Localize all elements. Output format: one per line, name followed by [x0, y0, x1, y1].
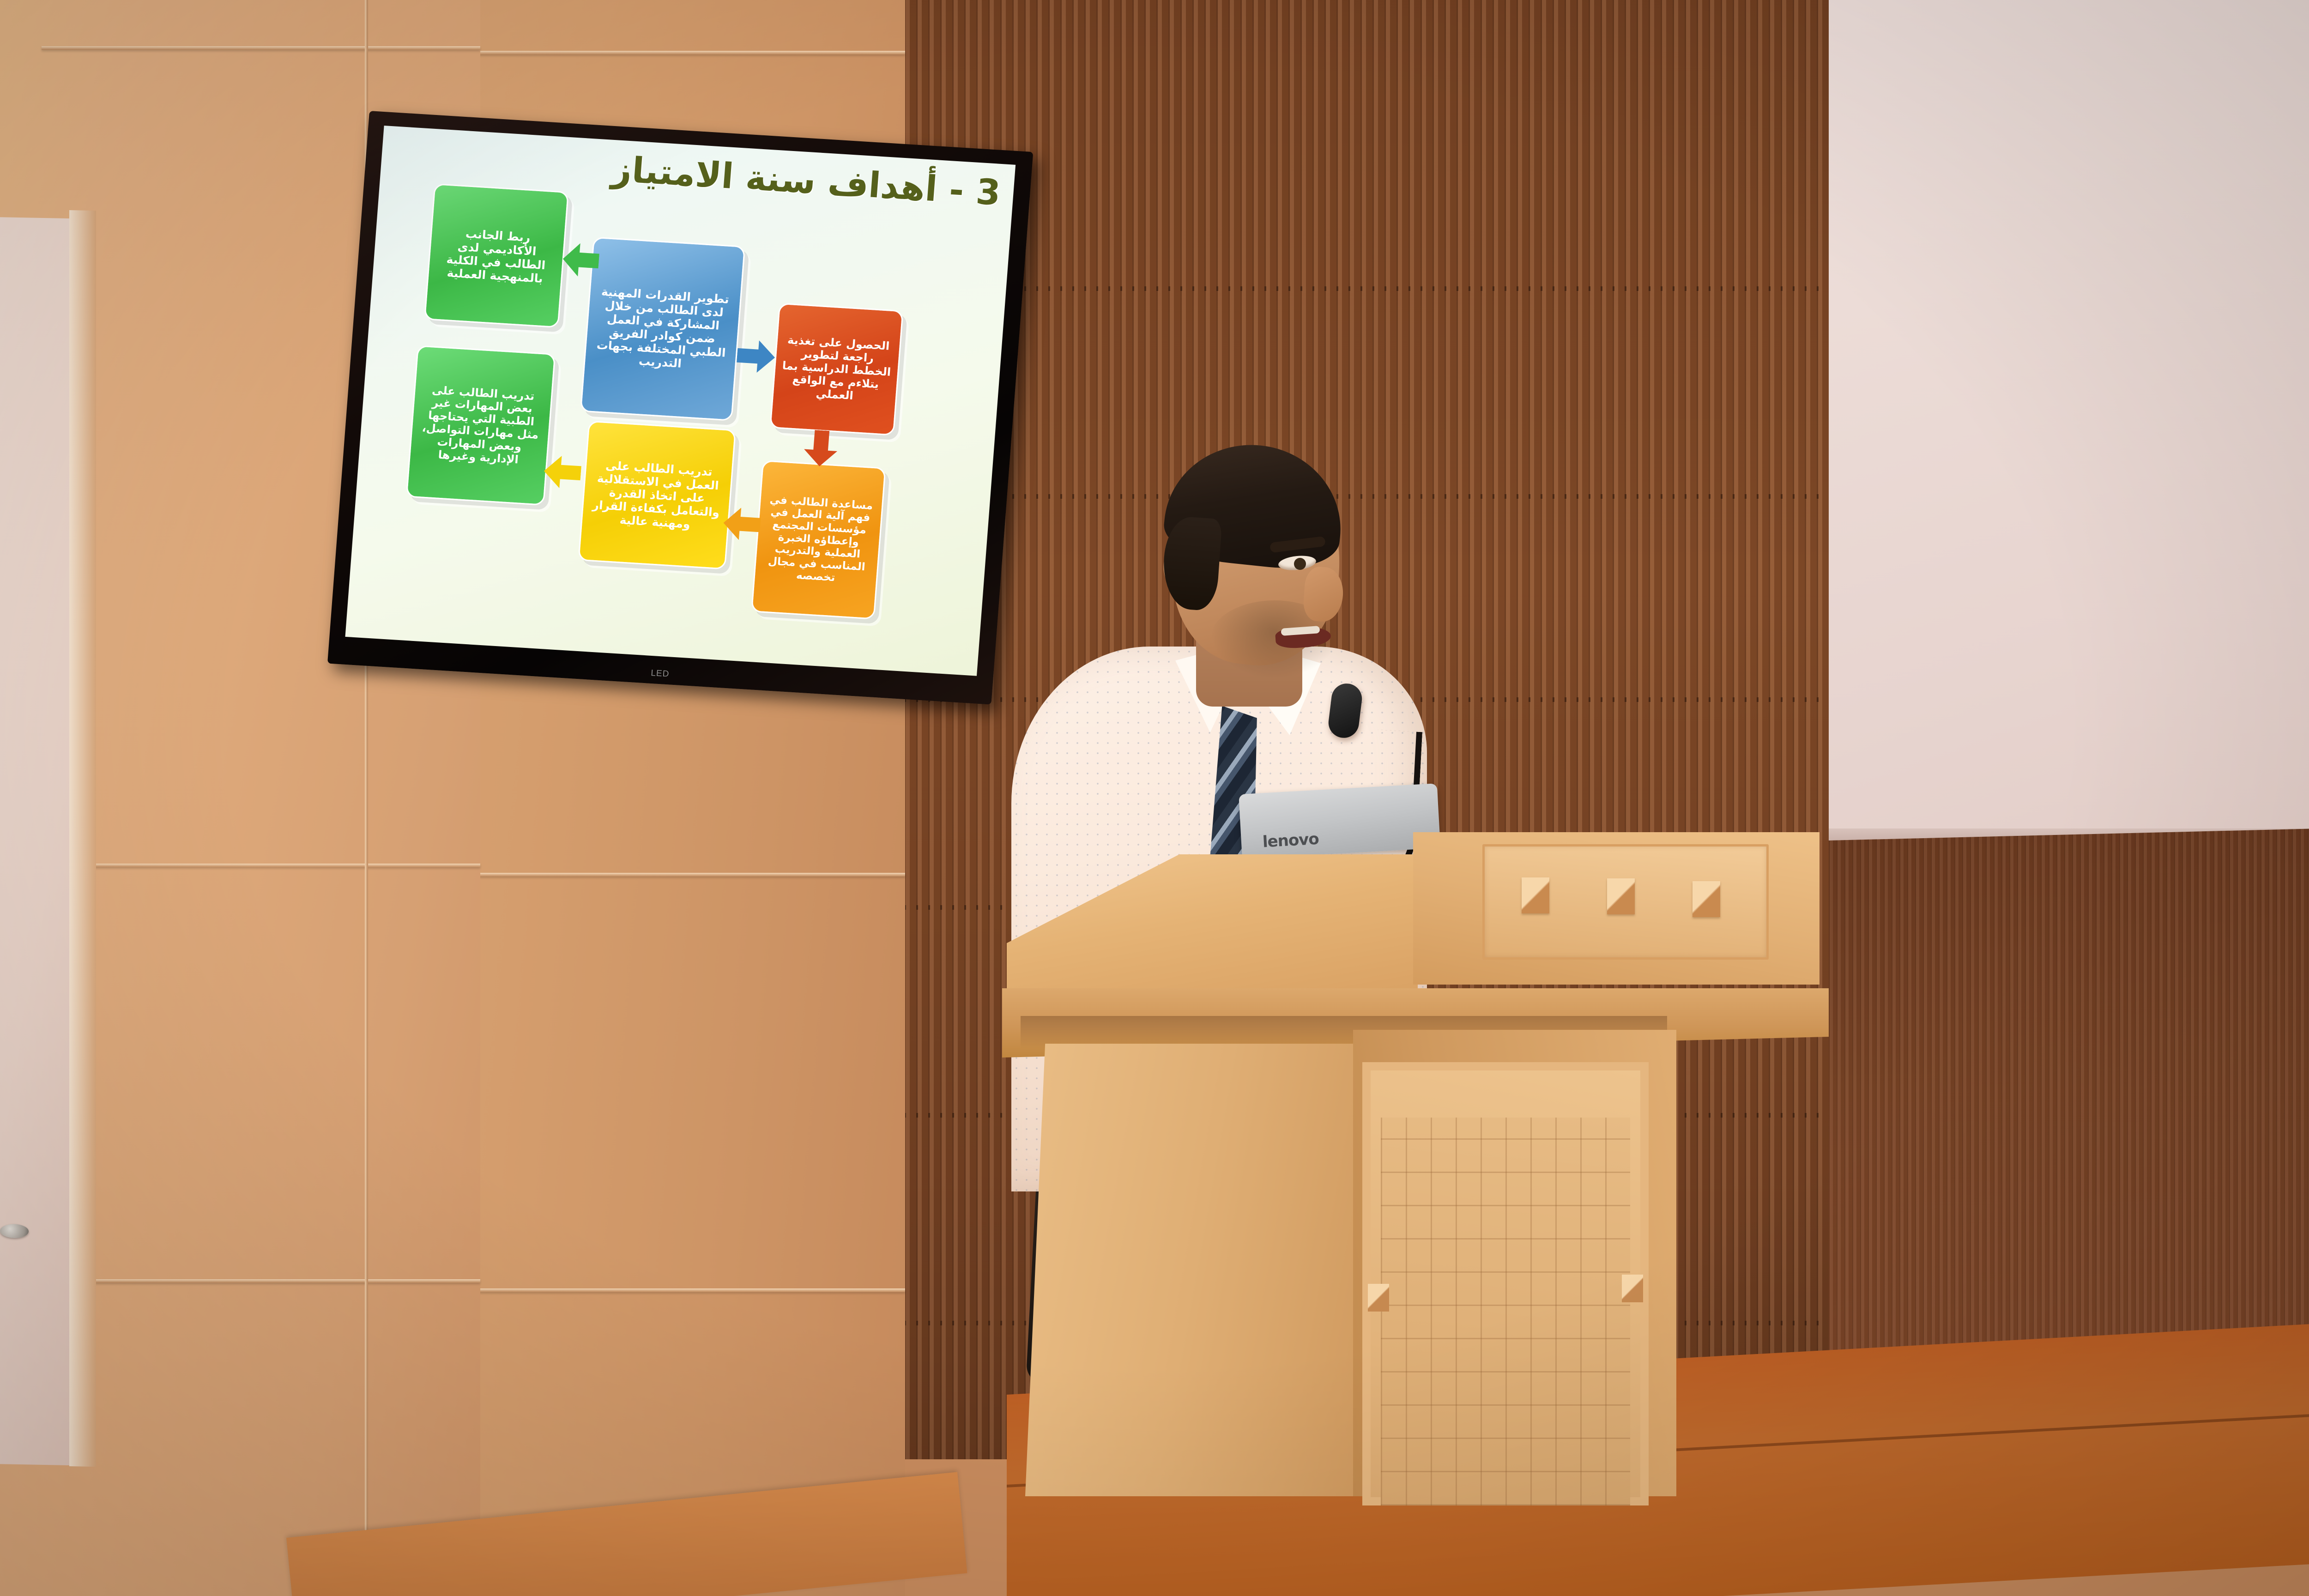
- podium-bowtie-inlay-icon: [1692, 881, 1720, 917]
- arrow-left-yellow-icon: [543, 455, 582, 490]
- slide-node-green-top: ربط الجانب الأكاديمي لدى الطالب في الكلي…: [424, 183, 569, 328]
- slide-node-yellow: تدريب الطالب على العمل في الاستقلالية عل…: [578, 421, 736, 570]
- podium-carved-grid-panel: [1381, 1118, 1630, 1505]
- door-alcove[interactable]: [0, 217, 81, 1466]
- arrow-left-green-icon: [562, 242, 600, 278]
- arrow-right-blue-icon: [736, 339, 776, 374]
- podium-bowtie-inlay-icon: [1368, 1284, 1389, 1312]
- arrow-down-red-icon: [803, 429, 839, 467]
- projection-screen: [1829, 0, 2309, 840]
- lecture-hall-photo: LED 3 - أهداف سنة الامتياز ربط الجانب ال…: [0, 0, 2309, 1596]
- tv-screen: 3 - أهداف سنة الامتياز ربط الجانب الأكاد…: [345, 126, 1015, 676]
- door-handle[interactable]: [0, 1224, 29, 1238]
- podium: [1007, 813, 1847, 1596]
- podium-top-left: [1007, 854, 1418, 997]
- speaker-pupil: [1294, 558, 1306, 570]
- podium-body-left: [1025, 1044, 1358, 1496]
- slide-node-orange: مساعدة الطالب في فهم آلية العمل في مؤسسا…: [751, 460, 886, 620]
- wainscot-panel-right: [1829, 827, 2309, 1413]
- tv-brand-label: LED: [651, 668, 670, 679]
- wall-mounted-tv[interactable]: LED 3 - أهداف سنة الامتياز ربط الجانب ال…: [327, 111, 1033, 705]
- arrow-left-orange-icon: [722, 507, 762, 541]
- podium-bowtie-inlay-icon: [1622, 1275, 1643, 1302]
- door-frame: [69, 210, 96, 1467]
- slide-node-red: الحصول على تغذية راجعة لتطوير الخطط الدر…: [769, 303, 903, 436]
- slide-node-green-bottom: تدريب الطالب على بعض المهارات غير الطبية…: [406, 345, 556, 506]
- podium-bowtie-inlay-icon: [1607, 878, 1635, 914]
- slide-node-blue: تطوير القدرات المهنية لدى الطالب من خلال…: [580, 237, 745, 421]
- podium-bowtie-inlay-icon: [1522, 877, 1549, 913]
